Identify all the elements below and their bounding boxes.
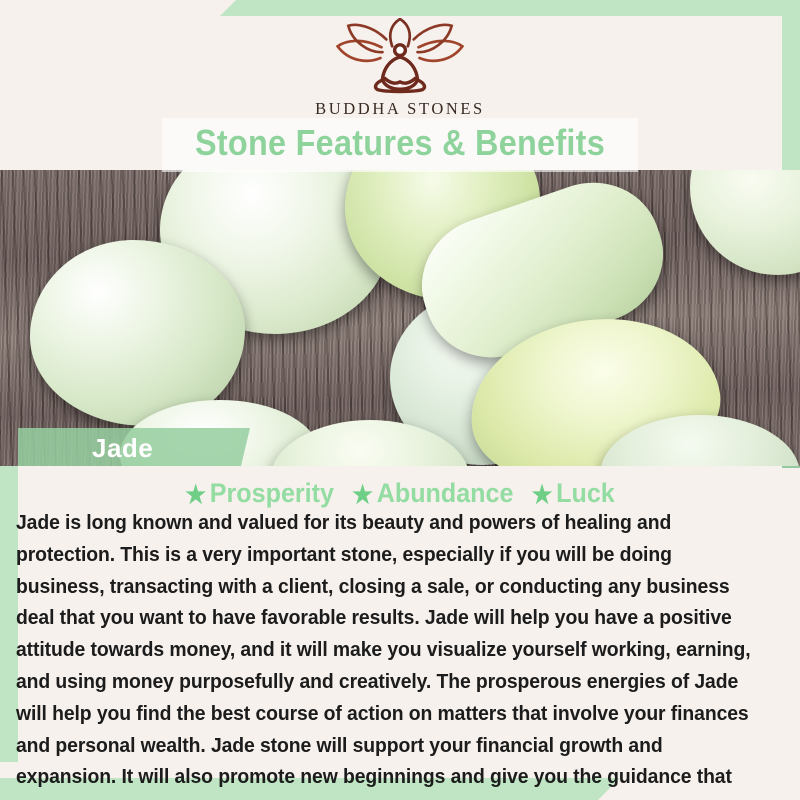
benefit-label: Luck [556, 478, 615, 508]
benefit-abundance: ★Abundance [352, 478, 513, 508]
stone-info-poster: BUDDHA STONES Stone Features & Benefits … [0, 0, 800, 800]
star-icon: ★ [185, 481, 206, 509]
decor-bar-top [220, 0, 800, 16]
jade-stone [30, 240, 245, 426]
hero-photo [0, 170, 800, 466]
star-icon: ★ [352, 481, 373, 509]
stone-name-label: Jade [92, 433, 153, 464]
star-icon: ★ [532, 481, 553, 509]
page-title: Stone Features & Benefits [40, 122, 760, 164]
brand-name: BUDDHA STONES [0, 99, 800, 119]
benefit-prosperity: ★Prosperity [185, 478, 334, 508]
benefit-label: Prosperity [210, 478, 334, 508]
lotus-meditation-icon [325, 18, 475, 96]
description-paragraph: Jade is long known and valued for its be… [16, 508, 753, 800]
benefit-label: Abundance [377, 478, 514, 508]
benefit-luck: ★Luck [532, 478, 615, 508]
benefits-row: ★Prosperity ★Abundance ★Luck [28, 478, 772, 510]
brand-header: BUDDHA STONES [0, 18, 800, 119]
